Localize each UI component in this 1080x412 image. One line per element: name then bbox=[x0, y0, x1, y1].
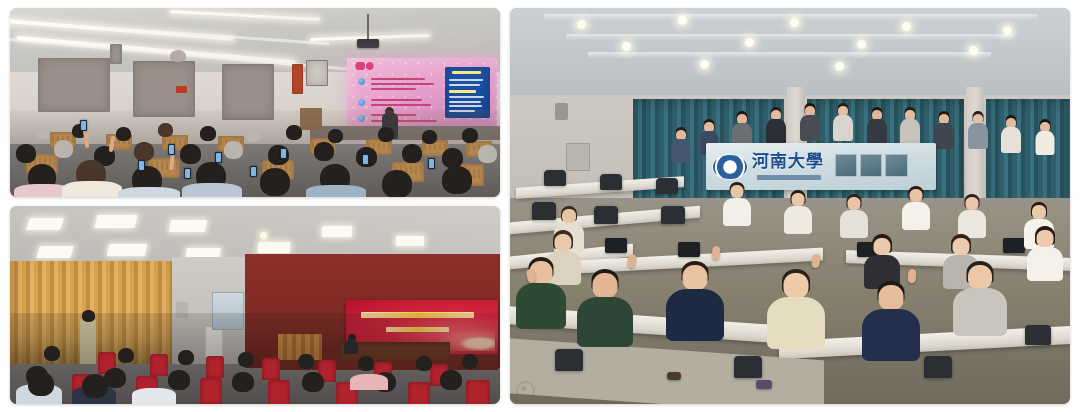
person-body bbox=[902, 202, 930, 230]
speaker-icon bbox=[110, 44, 122, 64]
audience-head bbox=[442, 148, 463, 168]
student-head bbox=[440, 370, 462, 390]
seated-person bbox=[779, 190, 818, 253]
person-body bbox=[867, 119, 887, 145]
person-body bbox=[723, 198, 751, 226]
slide-bullet-icon bbox=[358, 99, 365, 106]
banner-organization-name: 河南大學 bbox=[752, 153, 830, 173]
audience-head bbox=[442, 166, 472, 194]
person-head bbox=[965, 197, 978, 210]
standing-person bbox=[997, 115, 1025, 174]
phone-icon[interactable] bbox=[138, 160, 145, 171]
person-body bbox=[800, 115, 820, 141]
student-head bbox=[118, 348, 134, 363]
fire-extinguisher-icon bbox=[292, 64, 303, 94]
audience-head bbox=[246, 128, 261, 142]
person-head bbox=[792, 193, 805, 206]
audience-head bbox=[158, 123, 173, 137]
phone-icon[interactable] bbox=[362, 154, 369, 165]
student-head bbox=[462, 354, 478, 369]
ceiling-beam bbox=[566, 34, 1015, 40]
audience-shoulder bbox=[62, 181, 122, 197]
ceiling-light bbox=[94, 215, 137, 228]
audience-head bbox=[382, 170, 412, 197]
person-body bbox=[666, 289, 724, 341]
person-head bbox=[1036, 230, 1053, 247]
panel-heading-line bbox=[452, 71, 482, 74]
person-body bbox=[1001, 127, 1021, 153]
exit-sign-icon bbox=[176, 86, 187, 93]
person-head bbox=[593, 273, 618, 298]
student-head bbox=[28, 372, 54, 396]
person-head bbox=[783, 273, 808, 298]
audience-head bbox=[54, 140, 73, 158]
person-body bbox=[833, 115, 853, 141]
auditorium-seat bbox=[206, 356, 224, 378]
audience-shoulder bbox=[118, 187, 180, 197]
slide-logo-icon bbox=[353, 62, 377, 71]
downlight-icon bbox=[678, 16, 687, 25]
slide-bullet-icon bbox=[358, 78, 365, 85]
audience-head bbox=[260, 168, 290, 196]
audience-head bbox=[200, 126, 216, 141]
person-body bbox=[1035, 131, 1054, 155]
monitor bbox=[678, 242, 700, 257]
phone-icon[interactable] bbox=[168, 144, 175, 155]
collage-left-column bbox=[10, 8, 500, 404]
ceiling-light bbox=[107, 244, 148, 256]
thumbs-up-icon bbox=[711, 245, 720, 260]
thumbs-up-icon bbox=[627, 253, 637, 268]
auditorium-seat bbox=[200, 378, 222, 404]
person-head bbox=[682, 265, 707, 290]
downlight-icon bbox=[902, 22, 911, 31]
student-head bbox=[298, 354, 314, 369]
student-head bbox=[82, 374, 108, 398]
audience-head bbox=[116, 127, 131, 141]
lecture-hall-scene bbox=[10, 8, 500, 197]
slide-text-line bbox=[371, 78, 425, 80]
downlight-icon bbox=[1003, 26, 1012, 35]
chair bbox=[924, 356, 952, 378]
ceiling-light bbox=[396, 236, 424, 246]
ceiling-light bbox=[36, 246, 73, 258]
panel-text-line bbox=[449, 79, 483, 81]
collage-right-column: 河南大學 bbox=[510, 8, 1070, 404]
front-row-person bbox=[510, 257, 572, 360]
standing-person bbox=[667, 127, 695, 182]
person-head bbox=[909, 189, 922, 202]
person-body bbox=[766, 119, 786, 145]
person-head bbox=[848, 197, 861, 210]
slide-text-line bbox=[371, 99, 422, 101]
classroom-scene: 河南大學 bbox=[510, 8, 1070, 404]
auditorium-seat bbox=[408, 382, 430, 404]
person-head bbox=[555, 234, 572, 251]
panel-text-line bbox=[449, 96, 484, 98]
audience-head bbox=[286, 125, 302, 140]
front-row-person bbox=[661, 261, 728, 372]
phone-icon[interactable] bbox=[428, 158, 435, 169]
chair bbox=[734, 356, 762, 378]
student-head bbox=[238, 352, 254, 367]
standing-person bbox=[1031, 119, 1059, 174]
person-body bbox=[671, 139, 690, 163]
university-seal-icon bbox=[713, 155, 747, 179]
person-body bbox=[516, 283, 566, 329]
seated-person bbox=[717, 182, 756, 245]
student-head bbox=[302, 372, 324, 392]
chair bbox=[544, 170, 566, 186]
person-head bbox=[874, 238, 891, 255]
ceiling-light bbox=[322, 226, 353, 237]
projector-icon bbox=[357, 39, 379, 48]
auditorium-seat bbox=[268, 380, 290, 404]
student-head bbox=[416, 356, 432, 371]
panel-text-line bbox=[449, 101, 481, 103]
chair bbox=[600, 174, 622, 190]
phone-icon[interactable] bbox=[184, 168, 191, 179]
auditorium-seat bbox=[466, 380, 490, 404]
front-row-person bbox=[762, 269, 829, 380]
person-body bbox=[1027, 247, 1063, 281]
wall-vent bbox=[566, 143, 590, 171]
person-body bbox=[767, 297, 825, 349]
dome-camera-icon bbox=[170, 50, 186, 62]
audience-head bbox=[314, 142, 334, 161]
phone-icon[interactable] bbox=[80, 120, 87, 131]
audience-head bbox=[224, 141, 243, 159]
downlight-icon bbox=[790, 18, 799, 27]
downlight-icon bbox=[622, 42, 631, 51]
auditorium-seat bbox=[262, 358, 280, 380]
photo-lecture-hall-projector[interactable] bbox=[10, 8, 500, 197]
projector-mount bbox=[367, 14, 369, 40]
person-body bbox=[862, 309, 920, 361]
thumbs-up-icon bbox=[907, 269, 916, 284]
wall-panel bbox=[38, 58, 110, 112]
front-row-person bbox=[857, 281, 924, 392]
banner-photo-tile bbox=[835, 154, 858, 177]
chair bbox=[1025, 325, 1051, 345]
photo-collage: 河南大學 bbox=[0, 0, 1080, 412]
banner-photo-tile bbox=[885, 154, 908, 177]
panel-text-line bbox=[449, 84, 480, 86]
student-head bbox=[178, 350, 194, 365]
banner-subtitle-line bbox=[757, 175, 821, 180]
person-body bbox=[784, 206, 812, 234]
banner-photo-tile bbox=[860, 154, 883, 177]
downlight-icon bbox=[835, 62, 844, 71]
person-head bbox=[562, 209, 576, 223]
phone-icon[interactable] bbox=[250, 166, 257, 177]
student-head bbox=[168, 370, 190, 390]
speaker-icon bbox=[555, 103, 568, 120]
ceiling-light bbox=[257, 242, 290, 253]
audience-head bbox=[402, 144, 422, 163]
ceiling-light bbox=[169, 220, 207, 232]
audience-head bbox=[180, 144, 201, 164]
slide-text-line bbox=[371, 83, 434, 85]
phone-icon[interactable] bbox=[215, 152, 222, 163]
audience-head bbox=[16, 144, 36, 163]
phone-icon[interactable] bbox=[280, 148, 287, 159]
front-row-person bbox=[947, 261, 1014, 364]
person-head bbox=[968, 265, 992, 289]
student-head bbox=[358, 356, 374, 371]
chair bbox=[661, 206, 685, 224]
audience-head bbox=[328, 129, 343, 143]
person-head bbox=[730, 185, 743, 198]
person-head bbox=[1032, 205, 1046, 219]
audience-head bbox=[378, 127, 394, 142]
person-body bbox=[953, 288, 1007, 336]
audience-head bbox=[462, 128, 478, 143]
student-head bbox=[232, 372, 254, 392]
auditorium-seat bbox=[150, 354, 168, 376]
standing-person bbox=[964, 111, 992, 170]
chair bbox=[555, 349, 583, 371]
audience-head bbox=[134, 142, 154, 161]
audience-shoulder bbox=[182, 183, 242, 197]
photo-auditorium-red-banner[interactable] bbox=[10, 206, 500, 404]
glasses-on-desk bbox=[667, 372, 681, 380]
student-head bbox=[44, 346, 60, 361]
person-head bbox=[952, 238, 969, 255]
person-body bbox=[934, 123, 954, 149]
audience-head bbox=[478, 145, 497, 163]
audience-head bbox=[36, 126, 50, 139]
ceiling-spotlight bbox=[260, 232, 267, 239]
seated-person bbox=[1020, 226, 1070, 305]
circle-watermark-icon bbox=[516, 381, 535, 400]
ceiling-light bbox=[26, 218, 64, 230]
slide-text-line bbox=[371, 104, 431, 106]
chair bbox=[594, 206, 618, 224]
student-shoulder bbox=[350, 374, 388, 390]
panel-heading-line bbox=[449, 90, 476, 93]
monitor bbox=[605, 238, 627, 253]
student-shoulder bbox=[132, 388, 176, 404]
audience-shoulder bbox=[306, 185, 366, 197]
phone-on-desk[interactable] bbox=[756, 380, 772, 389]
wall-notice bbox=[306, 60, 328, 86]
ceiling-beam bbox=[588, 52, 992, 58]
person-body bbox=[900, 119, 920, 145]
person-body bbox=[577, 297, 633, 347]
photo-classroom-group[interactable]: 河南大學 bbox=[510, 8, 1070, 404]
auditorium-scene bbox=[10, 206, 500, 404]
audience-head bbox=[422, 130, 437, 144]
panel-text-line bbox=[449, 105, 482, 107]
person-head bbox=[878, 285, 903, 310]
person-body bbox=[968, 123, 988, 149]
